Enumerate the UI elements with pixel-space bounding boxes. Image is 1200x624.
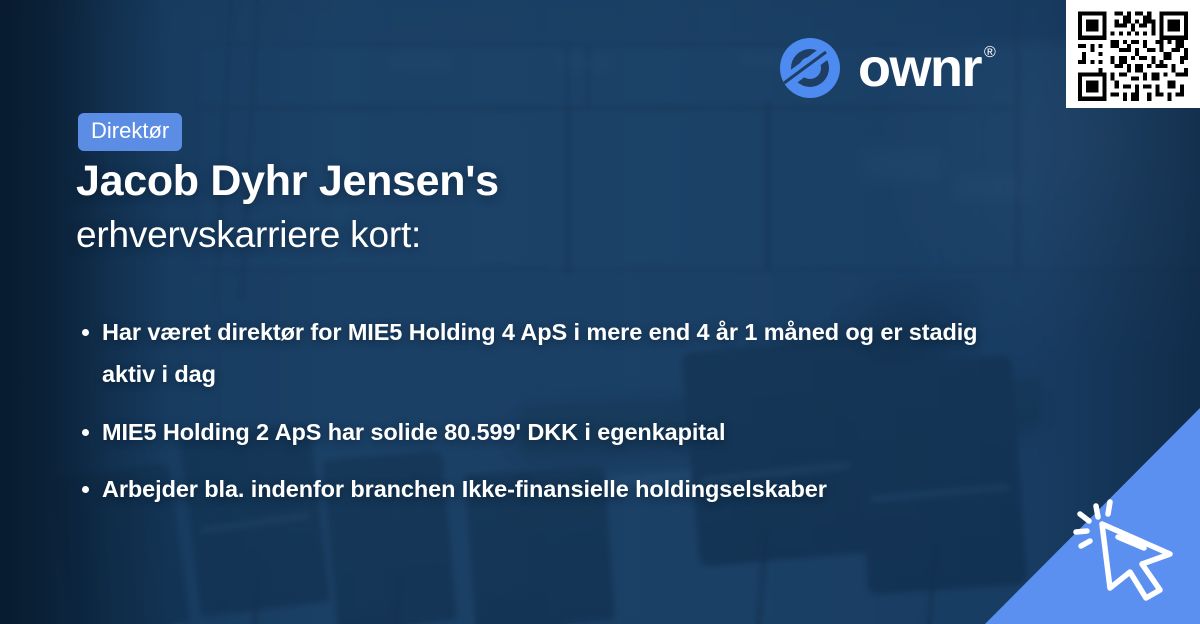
career-card: ownr ® (0, 0, 1200, 624)
ownr-circle-swoosh-icon (778, 36, 842, 100)
ownr-logo: ownr ® (778, 36, 994, 100)
role-badge: Direktør (78, 113, 182, 151)
list-item: Har været direktør for MIE5 Holding 4 Ap… (80, 312, 980, 396)
person-name: Jacob Dyhr Jensen's (76, 156, 836, 207)
list-item-text: Arbejder bla. indenfor branchen Ikke-fin… (102, 476, 827, 502)
qr-code-icon (1074, 7, 1192, 101)
qr-code-panel[interactable] (1066, 0, 1200, 108)
bullet-dot-icon (82, 429, 89, 436)
headline-block: Jacob Dyhr Jensen's erhvervskarriere kor… (76, 156, 836, 257)
career-highlights-list: Har været direktør for MIE5 Holding 4 Ap… (80, 312, 980, 511)
ownr-wordmark: ownr ® (858, 41, 994, 95)
list-item: Arbejder bla. indenfor branchen Ikke-fin… (80, 469, 980, 511)
registered-trademark-icon: ® (984, 45, 994, 61)
bullet-dot-icon (82, 329, 89, 336)
list-item-text: MIE5 Holding 2 ApS har solide 80.599' DK… (102, 419, 725, 445)
list-item: MIE5 Holding 2 ApS har solide 80.599' DK… (80, 412, 980, 454)
click-cursor-icon (1072, 492, 1182, 602)
card-subtitle: erhvervskarriere kort: (76, 213, 836, 257)
brand-name: ownr (858, 41, 981, 95)
list-item-text: Har været direktør for MIE5 Holding 4 Ap… (102, 319, 977, 387)
bullet-dot-icon (82, 486, 89, 493)
